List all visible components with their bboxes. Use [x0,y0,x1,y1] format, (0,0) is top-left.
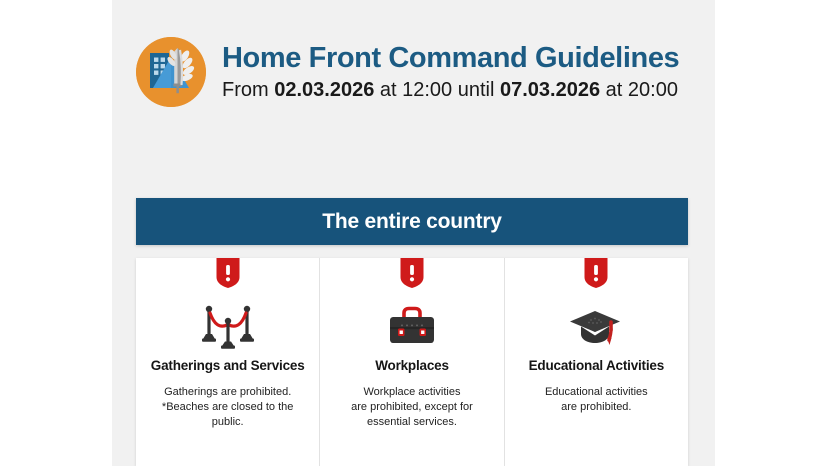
graduation-cap-icon [515,298,678,354]
card-description-line: *Beaches are closed to the public. [146,400,309,430]
validity-prefix: From [222,79,274,101]
card-description: Gatherings are prohibited. *Beaches are … [146,385,309,430]
card-description-line: Gatherings are prohibited. [146,385,309,400]
guideline-card-education[interactable]: Educational Activities Educational activ… [504,258,688,466]
guideline-cards: Gatherings and Services Gatherings are p… [136,258,688,466]
stanchion-rope-barrier-icon [146,298,309,354]
card-description: Workplace activities are prohibited, exc… [330,385,493,430]
card-description-line: are prohibited, except for [330,400,493,415]
card-description-line: are prohibited. [515,400,678,415]
card-description-line: Educational activities [515,385,678,400]
validity-period: From 02.03.2026 at 12:00 until 07.03.202… [222,77,679,103]
card-title: Educational Activities [515,358,678,373]
home-front-command-logo-icon [136,37,206,107]
page-root: Home Front Command Guidelines From 02.03… [0,0,828,466]
guideline-card-gatherings[interactable]: Gatherings and Services Gatherings are p… [136,258,319,466]
guideline-card-workplaces[interactable]: Workplaces Workplace activities are proh… [319,258,503,466]
header-text-block: Home Front Command Guidelines From 02.03… [222,41,679,103]
card-description: Educational activities are prohibited. [515,385,678,415]
card-title: Gatherings and Services [146,358,309,373]
validity-end-date: 07.03.2026 [500,79,600,101]
page-header: Home Front Command Guidelines From 02.03… [136,30,716,114]
alert-exclamation-badge-icon [585,258,608,288]
alert-exclamation-badge-icon [216,258,239,288]
card-description-line: essential services. [330,415,493,430]
validity-start-date: 02.03.2026 [274,79,374,101]
validity-mid-1: at 12:00 until [374,79,500,101]
region-banner[interactable]: The entire country [136,198,688,245]
card-title: Workplaces [330,358,493,373]
alert-exclamation-badge-icon [400,258,423,288]
region-banner-label: The entire country [322,210,502,234]
validity-mid-2: at 20:00 [600,79,678,101]
card-description-line: Workplace activities [330,385,493,400]
page-title: Home Front Command Guidelines [222,43,679,74]
briefcase-icon [330,298,493,354]
